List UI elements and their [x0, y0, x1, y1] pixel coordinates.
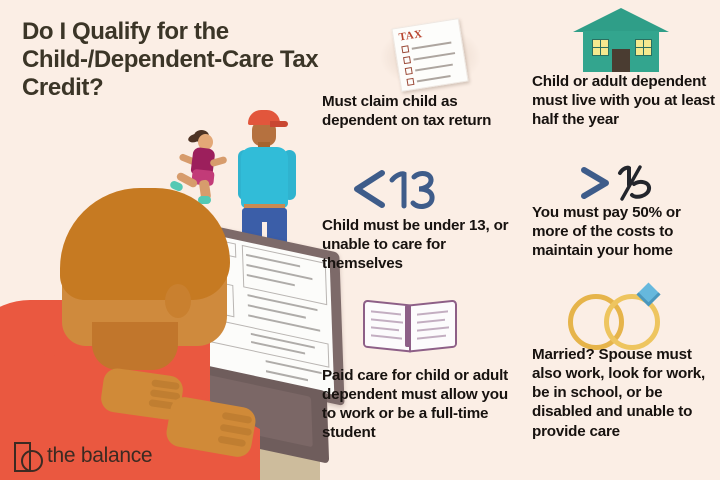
book-page-right	[409, 299, 457, 352]
requirement-cost-share: You must pay 50% or more of the costs to…	[532, 203, 712, 260]
requirement-spouse: Married? Spouse must also work, look for…	[532, 345, 712, 441]
book-page-left	[363, 299, 411, 352]
book-spine	[405, 305, 411, 347]
house-door	[612, 49, 630, 72]
tax-document-icon: TAX	[378, 18, 483, 93]
requirement-under-thirteen: Child must be under 13, or unable to car…	[322, 216, 517, 273]
adult-cap-brim	[270, 121, 288, 127]
logo-mark-icon	[14, 441, 40, 471]
open-book-icon	[362, 298, 456, 352]
requirement-claim-dependent: Must claim child as dependent on tax ret…	[322, 92, 517, 130]
wedding-rings-icon	[560, 286, 670, 348]
tax-document-sheet: TAX	[391, 18, 468, 92]
person-ear	[165, 284, 191, 318]
infographic-canvas: Do I Qualify for the Child-/Dependent-Ca…	[0, 0, 720, 480]
less-than-thirteen-symbol	[352, 168, 438, 215]
house-icon	[573, 8, 669, 74]
person-hair	[60, 188, 230, 300]
house-window-left	[592, 39, 609, 56]
page-title: Do I Qualify for the Child-/Dependent-Ca…	[22, 18, 322, 102]
requirement-residency: Child or adult dependent must live with …	[532, 72, 717, 129]
house-window-right	[635, 39, 652, 56]
less-than-thirteen-glyph	[352, 168, 438, 210]
the-balance-logo[interactable]: the balance	[14, 440, 152, 472]
tax-document-heading: TAX	[398, 28, 424, 44]
house-roof	[573, 8, 669, 32]
logo-text: the balance	[47, 444, 152, 468]
person-typing-illustration	[0, 196, 330, 480]
greater-than-half-symbol	[578, 163, 658, 208]
greater-than-half-glyph	[578, 163, 658, 203]
person-neck	[92, 322, 178, 370]
requirement-paid-care: Paid care for child or adult dependent m…	[322, 366, 522, 443]
